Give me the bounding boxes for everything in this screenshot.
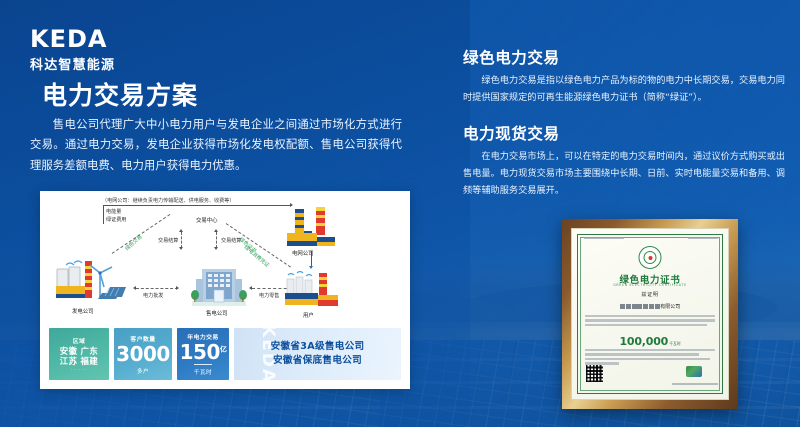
- stats-strip: 区域 安徽广东 江苏福建 ······ 客户数量 3000 多户 年电力交易 1…: [49, 328, 401, 380]
- stat-trade-unit: 千瓦时: [194, 364, 212, 376]
- section-heading-green-trading: 绿色电力交易: [463, 46, 560, 68]
- stat-customers-unit: 多户: [137, 366, 149, 375]
- diagram-label-green-trade: 绿色交易: [124, 233, 144, 252]
- diagram-label-retail: 电力零售: [259, 292, 279, 299]
- stat-card-region: 区域 安徽广东 江苏福建 ······: [49, 328, 109, 380]
- illustration-user-factory: [283, 271, 341, 309]
- stat-trade-scale: 亿: [220, 346, 227, 354]
- certificate-code-left: [584, 237, 624, 239]
- certificate-seal-icon: [639, 246, 662, 269]
- badge-qualifications: KEDA 安徽省3A级售电公司 安徽省保底售电公司: [234, 328, 401, 380]
- certificate-body-text: [585, 315, 715, 328]
- brand-name-cn: 科达智慧能源: [30, 54, 115, 73]
- brand-logo: KEDA 科达智慧能源: [30, 27, 115, 73]
- stat-region-dots: ······: [71, 367, 88, 372]
- badge-line-2: 安徽省保底售电公司: [271, 354, 365, 368]
- section-heading-spot-trading: 电力现货交易: [463, 122, 560, 144]
- brand-mark: KEDA: [30, 27, 115, 51]
- certificate-authority-logo: [686, 366, 702, 377]
- diagram-label-cert-fee: 绿证费用: [106, 216, 126, 223]
- stat-trade-number: 150: [180, 340, 220, 364]
- certificate-company-suffix: 有限公司: [660, 304, 680, 310]
- diagram-note: （电网公司：继续负责电力传输配送、供电服务、收费等）: [102, 197, 234, 204]
- certificate-amount: 100,000千瓦时: [572, 335, 728, 348]
- trading-flow-diagram: （电网公司：继续负责电力传输配送、供电服务、收费等） 电能量 绿证费用 交易中心…: [40, 191, 410, 324]
- stat-region-caption: 区域: [73, 336, 86, 345]
- certificate-kind: 兹证明: [572, 291, 728, 298]
- badge-text: 安徽省3A级售电公司 安徽省保底售电公司: [271, 340, 365, 369]
- diagram-card: （电网公司：继续负责电力传输配送、供电服务、收费等） 电能量 绿证费用 交易中心…: [40, 191, 410, 389]
- section-body-green-trading: 绿色电力交易是指以绿色电力产品为标的物的电力中长期交易，交易电力同时提供国家规定…: [463, 72, 785, 106]
- diagram-node-grid: 电网公司: [292, 249, 314, 257]
- region-anhui: 安徽: [58, 346, 79, 356]
- stat-region-values: 安徽广东 江苏福建: [58, 346, 100, 367]
- certificate-qr-code: [586, 365, 603, 382]
- poster-canvas: KEDA 科达智慧能源 电力交易方案 售电公司代理广大中小电力用户与发电企业之间…: [0, 0, 800, 427]
- green-certificate-photo: 绿色电力证书 GREEN ELECTRICITY CERTIFICATE 兹证明…: [562, 219, 738, 409]
- stat-trade-caption: 年电力交易: [187, 332, 218, 341]
- certificate-title-en: GREEN ELECTRICITY CERTIFICATE: [572, 283, 728, 287]
- region-guangdong: 广东: [79, 346, 100, 356]
- certificate-frame: 绿色电力证书 GREEN ELECTRICITY CERTIFICATE 兹证明…: [562, 219, 738, 409]
- stat-card-customers: 客户数量 3000 多户: [114, 328, 172, 380]
- stat-card-annual-trade: 年电力交易 150亿 千瓦时: [177, 328, 229, 380]
- certificate-issuer-line: [672, 383, 718, 385]
- stat-customers-caption: 客户数量: [130, 334, 155, 343]
- diagram-label-energy: 电能量: [106, 208, 121, 215]
- page-title: 电力交易方案: [42, 76, 198, 112]
- diagram-label-wholesale: 电力批发: [143, 292, 163, 299]
- certificate-amount-unit: 千瓦时: [669, 341, 680, 346]
- stat-customers-value: 3000: [116, 344, 170, 364]
- badge-line-1: 安徽省3A级售电公司: [271, 340, 365, 354]
- illustration-retail-company: [188, 263, 250, 307]
- section-body-spot-trading: 在电力交易市场上，可以在特定的电力交易时间内，通过议价方式购买或出售电量。电力现…: [463, 148, 785, 199]
- stat-trade-value: 150亿: [180, 342, 227, 362]
- certificate-paper: 绿色电力证书 GREEN ELECTRICITY CERTIFICATE 兹证明…: [571, 228, 729, 400]
- diagram-node-user: 用户: [303, 311, 314, 319]
- certificate-company: 有限公司: [572, 303, 728, 310]
- certificate-amount-number: 100,000: [619, 335, 668, 348]
- diagram-node-retailer: 售电公司: [206, 309, 228, 317]
- diagram-node-generator: 发电公司: [72, 307, 94, 315]
- certificate-body-text-2: [585, 349, 715, 367]
- illustration-grid-company: [283, 205, 339, 249]
- region-fujian: 福建: [79, 356, 100, 366]
- diagram-label-settlement-left: 交易结算: [158, 237, 178, 244]
- illustration-power-generator: [54, 253, 128, 303]
- certificate-header-codes: [584, 237, 718, 239]
- region-jiangsu: 江苏: [58, 356, 79, 366]
- diagram-node-trade-center: 交易中心: [196, 216, 218, 224]
- page-lead-paragraph: 售电公司代理广大中小电力用户与发电企业之间通过市场化方式进行交易。通过电力交易，…: [30, 114, 402, 175]
- certificate-code-right: [688, 237, 718, 239]
